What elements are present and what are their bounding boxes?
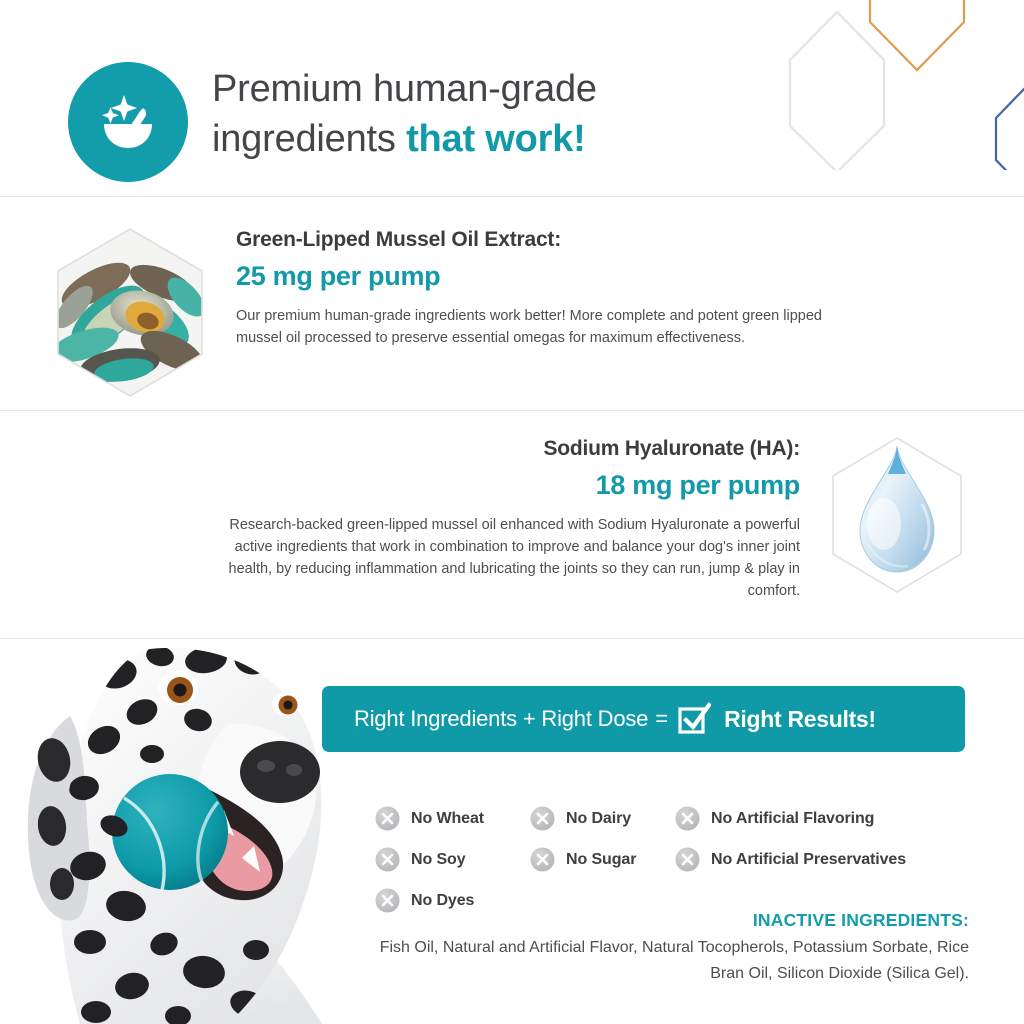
circle-x-icon [675,806,700,831]
claim-item: No Artificial Preservatives [675,839,906,880]
ingredient-description: Research-backed green-lipped mussel oil … [220,514,800,602]
claim-item: No Dairy [530,798,636,839]
header: Premium human-grade ingredients that wor… [0,0,1024,196]
ingredient-dose: 25 mg per pump [236,261,836,292]
headline-line-1: Premium human-grade [212,68,597,110]
circle-x-icon [675,847,700,872]
banner-result-text: Right Results! [724,706,876,733]
infographic-page: Premium human-grade ingredients that wor… [0,0,1024,1024]
water-droplet-photo [822,432,972,607]
ha-text-block: Sodium Hyaluronate (HA): 18 mg per pump … [220,437,800,602]
results-banner: Right Ingredients + Right Dose = Right R… [322,686,965,752]
claims-column-3: No Artificial Flavoring No Artificial Pr… [675,798,906,880]
claim-label: No Wheat [411,810,484,828]
ingredient-dose: 18 mg per pump [220,470,800,501]
claims-column-1: No Wheat No Soy No Dyes [375,798,484,921]
circle-x-icon [375,806,400,831]
claim-label: No Dairy [566,810,631,828]
page-headline: Premium human-grade ingredients that wor… [212,64,772,164]
ingredient-section-ha: Sodium Hyaluronate (HA): 18 mg per pump … [0,411,1024,638]
banner-equals-sign: = [655,706,668,732]
circle-x-icon [375,847,400,872]
headline-line-2-plain: ingredients [212,118,406,160]
claim-item: No Soy [375,839,484,880]
dalmatian-with-teal-tennis-ball-photo [0,620,402,1024]
claim-label: No Sugar [566,851,636,869]
inactive-ingredients-block: INACTIVE INGREDIENTS: Fish Oil, Natural … [369,910,969,987]
claims-section: Right Ingredients + Right Dose = Right R… [0,639,1024,1024]
claims-column-2: No Dairy No Sugar [530,798,636,880]
ingredient-section-mussel: Green-Lipped Mussel Oil Extract: 25 mg p… [0,197,1024,410]
green-lipped-mussels-photo [50,225,210,400]
circle-x-icon [530,847,555,872]
mortar-pestle-sparkle-icon [91,85,165,159]
inactive-ingredients-title: INACTIVE INGREDIENTS: [369,910,969,931]
ingredient-title: Sodium Hyaluronate (HA): [220,437,800,461]
brand-logo-badge [68,62,188,182]
claim-label: No Artificial Preservatives [711,851,906,869]
claim-label: No Artificial Flavoring [711,810,874,828]
claim-item: No Artificial Flavoring [675,798,906,839]
inactive-ingredients-body: Fish Oil, Natural and Artificial Flavor,… [369,935,969,987]
mussel-text-block: Green-Lipped Mussel Oil Extract: 25 mg p… [236,228,836,349]
claim-label: No Soy [411,851,466,869]
banner-lead-text: Right Ingredients + Right Dose [354,706,648,732]
circle-x-icon [530,806,555,831]
claim-item: No Sugar [530,839,636,880]
ingredient-description: Our premium human-grade ingredients work… [236,305,836,349]
ingredient-title: Green-Lipped Mussel Oil Extract: [236,228,836,252]
checkbox-checked-icon [677,702,711,736]
headline-accent: that work! [406,118,586,160]
claim-label: No Dyes [411,892,474,910]
claim-item: No Wheat [375,798,484,839]
